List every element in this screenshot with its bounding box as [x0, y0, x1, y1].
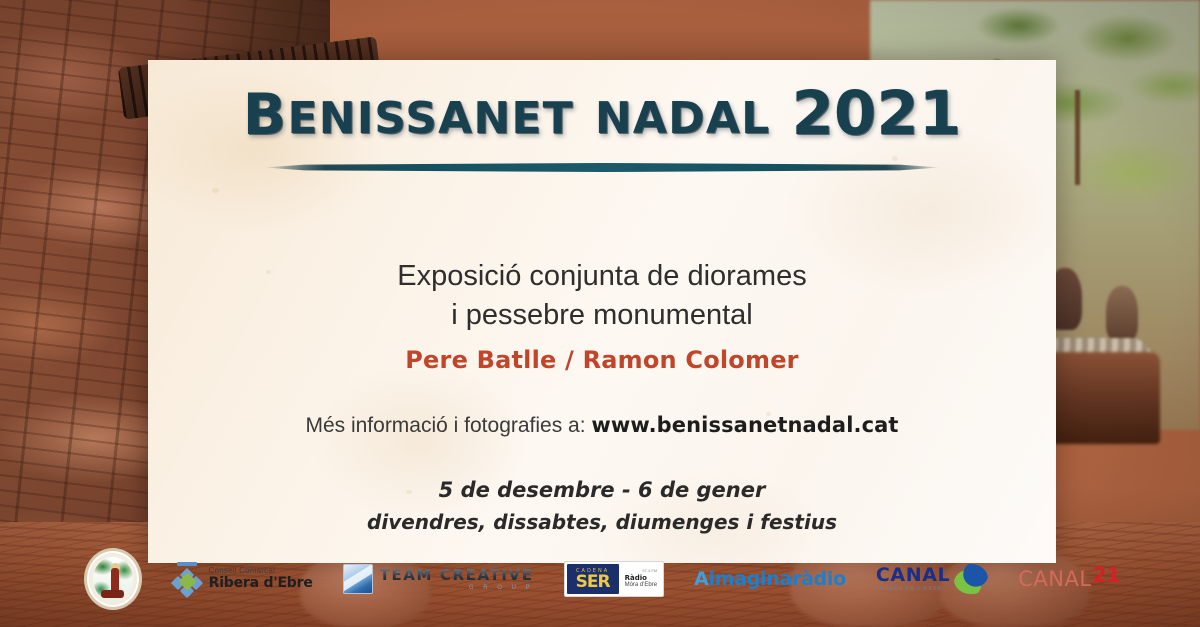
subtitle-block: Exposició conjunta de diorames i pessebr…: [148, 257, 1056, 335]
paper-speck: [212, 188, 219, 193]
cadena-ser-mark: SER: [576, 574, 610, 591]
more-info-line: Més informació i fotografies a: www.beni…: [148, 413, 1056, 438]
dates-range: 5 de desembre - 6 de gener: [148, 475, 1056, 507]
title-divider-rule: [264, 163, 940, 172]
dates-block: 5 de desembre - 6 de gener divendres, di…: [148, 475, 1056, 537]
poster-card: BENISSANET NADAL 2021 Exposició conjunta…: [148, 60, 1056, 563]
consell-comarcal-line-2: Ribera d'Ebre: [209, 576, 313, 591]
canal-swirl-icon: [954, 564, 988, 594]
team-creative-icon: [343, 564, 373, 594]
canal-wordmark: CANAL TERRES DE L'EBRE: [876, 566, 950, 592]
title-word-nadal: NADAL: [595, 93, 771, 144]
consell-comarcal-wordmark: Consell Comarcal Ribera d'Ebre: [209, 567, 313, 590]
cadena-ser-line-2: Móra d'Ebre: [625, 582, 658, 589]
title-word-benissanet-initial: B: [243, 82, 288, 148]
authors-line: Pere Batlle / Ramon Colomer: [148, 346, 1056, 374]
page-title: BENISSANET NADAL 2021: [243, 78, 961, 149]
logo-imaginaradio[interactable]: Aimaginaràdio: [694, 568, 846, 590]
cadena-ser-line-1: Ràdio: [625, 574, 658, 582]
team-creative-wordmark: TEAM CREATIVE G R O U P: [380, 568, 534, 591]
logo-benissanet-crest[interactable]: [84, 548, 142, 610]
imaginaradio-text: imaginaràdio: [709, 568, 846, 590]
consell-comarcal-icon: [172, 562, 202, 596]
consell-bar: [177, 562, 197, 566]
subtitle-line-1: Exposició conjunta de diorames: [148, 257, 1056, 296]
cadena-ser-icon: CADENA SER: [567, 564, 619, 594]
title-word-benissanet-rest: ENISSANET: [287, 93, 573, 144]
logo-consell-comarcal-ribera-debre[interactable]: Consell Comarcal Ribera d'Ebre: [172, 562, 313, 596]
poster-image: BENISSANET NADAL 2021 Exposició conjunta…: [0, 0, 1200, 627]
dates-weekdays: divendres, dissabtes, diumenges i festiu…: [148, 507, 1056, 537]
logo-team-creative-group[interactable]: TEAM CREATIVE G R O U P: [343, 564, 534, 594]
subtitle-line-2: i pessebre monumental: [148, 296, 1056, 335]
more-info-label: Més informació i fotografies a:: [305, 414, 585, 437]
team-creative-line-1: TEAM CREATIVE: [380, 568, 534, 583]
logo-canal-21[interactable]: CANAL21: [1018, 567, 1120, 591]
logo-canal-terres-ebre[interactable]: CANAL TERRES DE L'EBRE: [876, 564, 988, 594]
team-creative-line-2: G R O U P: [380, 585, 534, 591]
canal-main-text: CANAL: [876, 566, 950, 585]
logo-cadena-ser[interactable]: CADENA SER 97.4 FM Ràdio Móra d'Ebre: [564, 561, 665, 597]
sponsor-logo-strip: Consell Comarcal Ribera d'Ebre TEAM CREA…: [148, 548, 1056, 610]
coat-of-arms-icon: [84, 548, 142, 610]
title-year: 2021: [791, 78, 961, 149]
coat-of-arms-inner: [93, 557, 133, 601]
canal21-main-text: CANAL: [1018, 567, 1091, 591]
canal21-number: 21: [1093, 563, 1121, 587]
imaginaradio-wordmark: Aimaginaràdio: [694, 568, 846, 590]
website-url[interactable]: www.benissanetnadal.cat: [591, 413, 898, 437]
canal-sub-text: TERRES DE L'EBRE: [876, 587, 950, 592]
cadena-ser-station: 97.4 FM Ràdio Móra d'Ebre: [625, 569, 658, 589]
imaginaradio-initial: A: [694, 568, 708, 590]
coat-of-arms-base: [101, 590, 123, 598]
title-block: BENISSANET NADAL 2021: [148, 78, 1056, 172]
